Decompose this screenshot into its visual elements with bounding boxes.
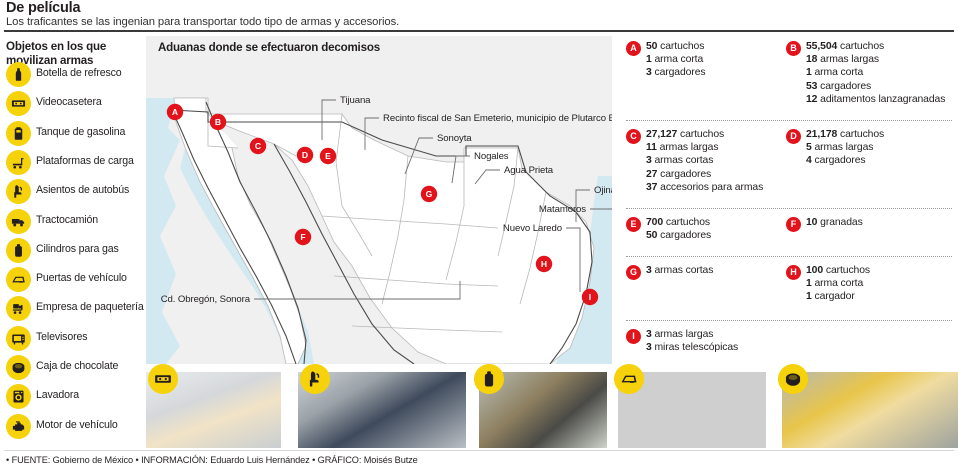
seizure-badge-c: C (626, 129, 641, 144)
svg-text:C: C (255, 141, 261, 151)
seizure-item: granadas (820, 217, 863, 228)
seizure-lines: 21,178 cartuchos5 armas largas4 cargador… (806, 128, 884, 168)
photo-badge-bus-seat-icon (300, 364, 330, 394)
seizure-lines: 3 armas largas3 miras telescópicas (646, 328, 738, 354)
page-title: De película (6, 0, 80, 16)
tv-icon (6, 326, 31, 351)
sidebar-item-videocasetera[interactable]: Videocasetera (6, 91, 144, 120)
seizure-lines: 50 cartuchos1 arma corta3 cargadores (646, 40, 705, 80)
seizure-count: 27,127 (646, 129, 677, 140)
seizure-count: 1 (806, 278, 812, 289)
map-marker-e: E (320, 148, 336, 164)
seizure-lines: 3 armas cortas (646, 264, 713, 277)
seizure-lines: 27,127 cartuchos11 armas largas3 armas c… (646, 128, 763, 194)
parcel-cart-icon (6, 296, 31, 321)
map-label-agua-prieta: Agua Prieta (504, 165, 554, 176)
svg-text:I: I (589, 292, 591, 302)
sidebar-item-label: Videocasetera (36, 96, 102, 108)
photo-badge-vcr-icon (148, 364, 178, 394)
seizure-line: 1 arma corta (806, 277, 870, 290)
seizure-line: 3 cargadores (646, 66, 705, 79)
photo-badge-chocolate-box-icon (778, 364, 808, 394)
seizure-badge-g: G (626, 265, 641, 280)
seizure-item: cargadores (820, 81, 871, 92)
seizure-item: cartuchos (660, 41, 704, 52)
seizure-line: 5 armas largas (806, 141, 884, 154)
seizure-item: armas largas (660, 142, 719, 153)
seizure-line: 1 arma corta (646, 53, 705, 66)
seizure-item: cartuchos (840, 129, 884, 140)
seizure-line: 18 armas largas (806, 53, 945, 66)
seizure-line: 11 armas largas (646, 141, 763, 154)
bottle-icon (6, 62, 31, 87)
map-marker-f: F (295, 229, 311, 245)
map-marker-d: D (297, 147, 313, 163)
footer-divider (4, 450, 954, 451)
photo-badge-gas-cylinder-icon (474, 364, 504, 394)
seizure-line: 1 cargador (806, 290, 870, 303)
seizure-count: 3 (646, 265, 652, 276)
sidebar-item-label: Televisores (36, 331, 87, 343)
seizure-item: cargador (814, 291, 854, 302)
seizure-count: 53 (806, 81, 817, 92)
seizure-badge-d: D (786, 129, 801, 144)
seizure-line: 55,504 cartuchos (806, 40, 945, 53)
seizure-line: 3 armas largas (646, 328, 738, 341)
seizure-badge-f: F (786, 217, 801, 232)
car-door-icon (6, 267, 31, 292)
seizure-badge-b: B (786, 41, 801, 56)
seizure-line: 3 armas cortas (646, 154, 763, 167)
seizure-item: aditamentos lanzagranadas (820, 94, 945, 105)
seizure-item: arma corta (814, 278, 863, 289)
map-marker-g: G (421, 186, 437, 202)
seizure-line: 50 cargadores (646, 229, 711, 242)
seizure-count: 10 (806, 217, 817, 228)
seizure-count: 5 (806, 142, 812, 153)
chocolate-box-icon (6, 355, 31, 380)
svg-text:E: E (325, 151, 331, 161)
sidebar-item-empresa-de-paqueter-a[interactable]: Empresa de paquetería (6, 296, 144, 325)
seizure-count: 1 (646, 54, 652, 65)
sidebar-item-plataformas-de-carga[interactable]: Plataformas de carga (6, 150, 144, 179)
seizure-count: 12 (806, 94, 817, 105)
seizure-data-panel: A50 cartuchos1 arma corta3 cargadoresB55… (620, 36, 958, 366)
seizure-count: 55,504 (806, 41, 837, 52)
sidebar-item-botella-de-refresco[interactable]: Botella de refresco (6, 62, 144, 91)
page-header: De película Los traficantes se las ingen… (0, 0, 958, 30)
sidebar-item-label: Puertas de vehículo (36, 272, 127, 284)
seizure-count: 700 (646, 217, 663, 228)
seizure-lines: 100 cartuchos1 arma corta1 cargador (806, 264, 870, 304)
seizure-badge-i: I (626, 329, 641, 344)
seizure-line: 4 cargadores (806, 154, 884, 167)
sidebar-item-label: Tanque de gasolina (36, 126, 125, 138)
seizure-item: armas largas (654, 329, 713, 340)
engine-icon (6, 414, 31, 439)
seizure-line: 27 cargadores (646, 168, 763, 181)
sidebar-item-label: Motor de vehículo (36, 419, 118, 431)
map-marker-b: B (210, 114, 226, 130)
sidebar-item-puertas-de-veh-culo[interactable]: Puertas de vehículo (6, 267, 144, 296)
panel-separator (626, 208, 952, 209)
seizure-count: 50 (646, 41, 657, 52)
seizure-line: 1 arma corta (806, 66, 945, 79)
seizure-badge-h: H (786, 265, 801, 280)
seizure-item: cargadores (660, 230, 711, 241)
seizure-line: 3 armas cortas (646, 264, 713, 277)
seizure-item: miras telescópicas (654, 342, 738, 353)
map-label-nuevo-laredo: Nuevo Laredo (503, 223, 562, 234)
seizure-count: 3 (646, 342, 652, 353)
seizure-count: 3 (646, 329, 652, 340)
sidebar-item-cilindros-para-gas[interactable]: Cilindros para gas (6, 238, 144, 267)
map-label-sonoyta: Sonoyta (437, 133, 472, 144)
seizure-line: 12 aditamentos lanzagranadas (806, 93, 945, 106)
seizure-badge-e: E (626, 217, 641, 232)
map-label-ojinaga: Ojinaga (594, 185, 612, 196)
seizure-count: 21,178 (806, 129, 837, 140)
truck-icon (6, 209, 31, 234)
seizure-count: 37 (646, 182, 657, 193)
seizure-count: 18 (806, 54, 817, 65)
cart-icon (6, 150, 31, 175)
seizure-count: 50 (646, 230, 657, 241)
seizure-line: 27,127 cartuchos (646, 128, 763, 141)
sidebar-item-lavadora[interactable]: Lavadora (6, 384, 144, 413)
map-label-recinto: Recinto fiscal de San Emeterio, municipi… (383, 113, 612, 124)
seizure-badge-a: A (626, 41, 641, 56)
svg-text:H: H (541, 259, 547, 269)
seizure-count: 4 (806, 155, 812, 166)
photo-badge-car-door-icon (614, 364, 644, 394)
sidebar-item-label: Asientos de autobús (36, 184, 129, 196)
sidebar-item-televisores[interactable]: Televisores (6, 326, 144, 355)
footer-credits: • FUENTE: Gobierno de México • INFORMACI… (6, 455, 418, 465)
seizure-line: 700 cartuchos (646, 216, 711, 229)
seizure-line: 21,178 cartuchos (806, 128, 884, 141)
seizure-item: cartuchos (826, 265, 870, 276)
seizure-count: 3 (646, 67, 652, 78)
sidebar-item-tractocami-n[interactable]: Tractocamión (6, 209, 144, 238)
seizure-map: Aduanas donde se efectuaron decomisos (146, 36, 612, 364)
svg-text:B: B (215, 117, 221, 127)
seizure-item: cartuchos (666, 217, 710, 228)
seizure-count: 11 (646, 142, 657, 153)
map-marker-a: A (167, 104, 183, 120)
svg-text:F: F (300, 232, 305, 242)
seizure-count: 1 (806, 291, 812, 302)
photo-strip (146, 368, 958, 450)
seizure-count: 100 (806, 265, 823, 276)
seizure-item: armas cortas (654, 155, 713, 166)
seizure-item: cartuchos (680, 129, 724, 140)
panel-separator (626, 256, 952, 257)
seizure-item: armas largas (820, 54, 879, 65)
map-marker-i: I (582, 289, 598, 305)
page-subtitle: Los traficantes se las ingenian para tra… (6, 16, 399, 28)
map-graphic: Tijuana Recinto fiscal de San Emeterio, … (146, 36, 612, 364)
seizure-item: armas cortas (654, 265, 713, 276)
sidebar-item-motor-de-veh-culo[interactable]: Motor de vehículo (6, 414, 144, 443)
washer-icon (6, 384, 31, 409)
objects-sidebar: Objetos en los que movilizan armas Botel… (0, 36, 144, 456)
sidebar-item-caja-de-chocolate[interactable]: Caja de chocolate (6, 355, 144, 384)
seizure-line: 37 accesorios para armas (646, 181, 763, 194)
sidebar-item-tanque-de-gasolina[interactable]: Tanque de gasolina (6, 121, 144, 150)
svg-text:G: G (426, 189, 433, 199)
map-label-nogales: Nogales (474, 151, 509, 162)
seizure-line: 50 cartuchos (646, 40, 705, 53)
seizure-count: 3 (646, 155, 652, 166)
sidebar-item-label: Plataformas de carga (36, 155, 134, 167)
fuel-can-icon (6, 121, 31, 146)
seizure-line: 3 miras telescópicas (646, 341, 738, 354)
header-divider (4, 30, 954, 32)
vcr-icon (6, 91, 31, 116)
sidebar-item-label: Caja de chocolate (36, 360, 118, 372)
map-marker-c: C (250, 138, 266, 154)
seizure-item: accesorios para armas (660, 182, 763, 193)
seizure-item: cargadores (654, 67, 705, 78)
map-label-tijuana: Tijuana (340, 95, 371, 106)
svg-text:D: D (302, 150, 308, 160)
sidebar-item-label: Cilindros para gas (36, 243, 119, 255)
map-label-cd-obregon: Cd. Obregón, Sonora (161, 294, 251, 305)
map-label-matamoros: Matamoros (539, 204, 586, 215)
seizure-item: cargadores (660, 169, 711, 180)
seizure-count: 27 (646, 169, 657, 180)
seizure-lines: 10 granadas (806, 216, 863, 229)
gas-cylinder-icon (6, 238, 31, 263)
seizure-count: 1 (806, 67, 812, 78)
map-marker-h: H (536, 256, 552, 272)
svg-text:A: A (172, 107, 178, 117)
seizure-item: arma corta (654, 54, 703, 65)
sidebar-item-asientos-de-autob-s[interactable]: Asientos de autobús (6, 179, 144, 208)
seizure-item: cargadores (814, 155, 865, 166)
sidebar-item-label: Lavadora (36, 389, 79, 401)
seizure-item: armas largas (814, 142, 873, 153)
seizure-lines: 700 cartuchos50 cargadores (646, 216, 711, 242)
seizure-item: cartuchos (840, 41, 884, 52)
sidebar-item-label: Empresa de paquetería (36, 301, 144, 313)
sidebar-item-label: Botella de refresco (36, 67, 121, 79)
panel-separator (626, 120, 952, 121)
sidebar-item-label: Tractocamión (36, 214, 98, 226)
bus-seat-icon (6, 179, 31, 204)
seizure-line: 100 cartuchos (806, 264, 870, 277)
photo-5 (782, 372, 958, 448)
panel-separator (626, 320, 952, 321)
seizure-line: 10 granadas (806, 216, 863, 229)
seizure-line: 53 cargadores (806, 80, 945, 93)
seizure-item: arma corta (814, 67, 863, 78)
seizure-lines: 55,504 cartuchos18 armas largas1 arma co… (806, 40, 945, 106)
